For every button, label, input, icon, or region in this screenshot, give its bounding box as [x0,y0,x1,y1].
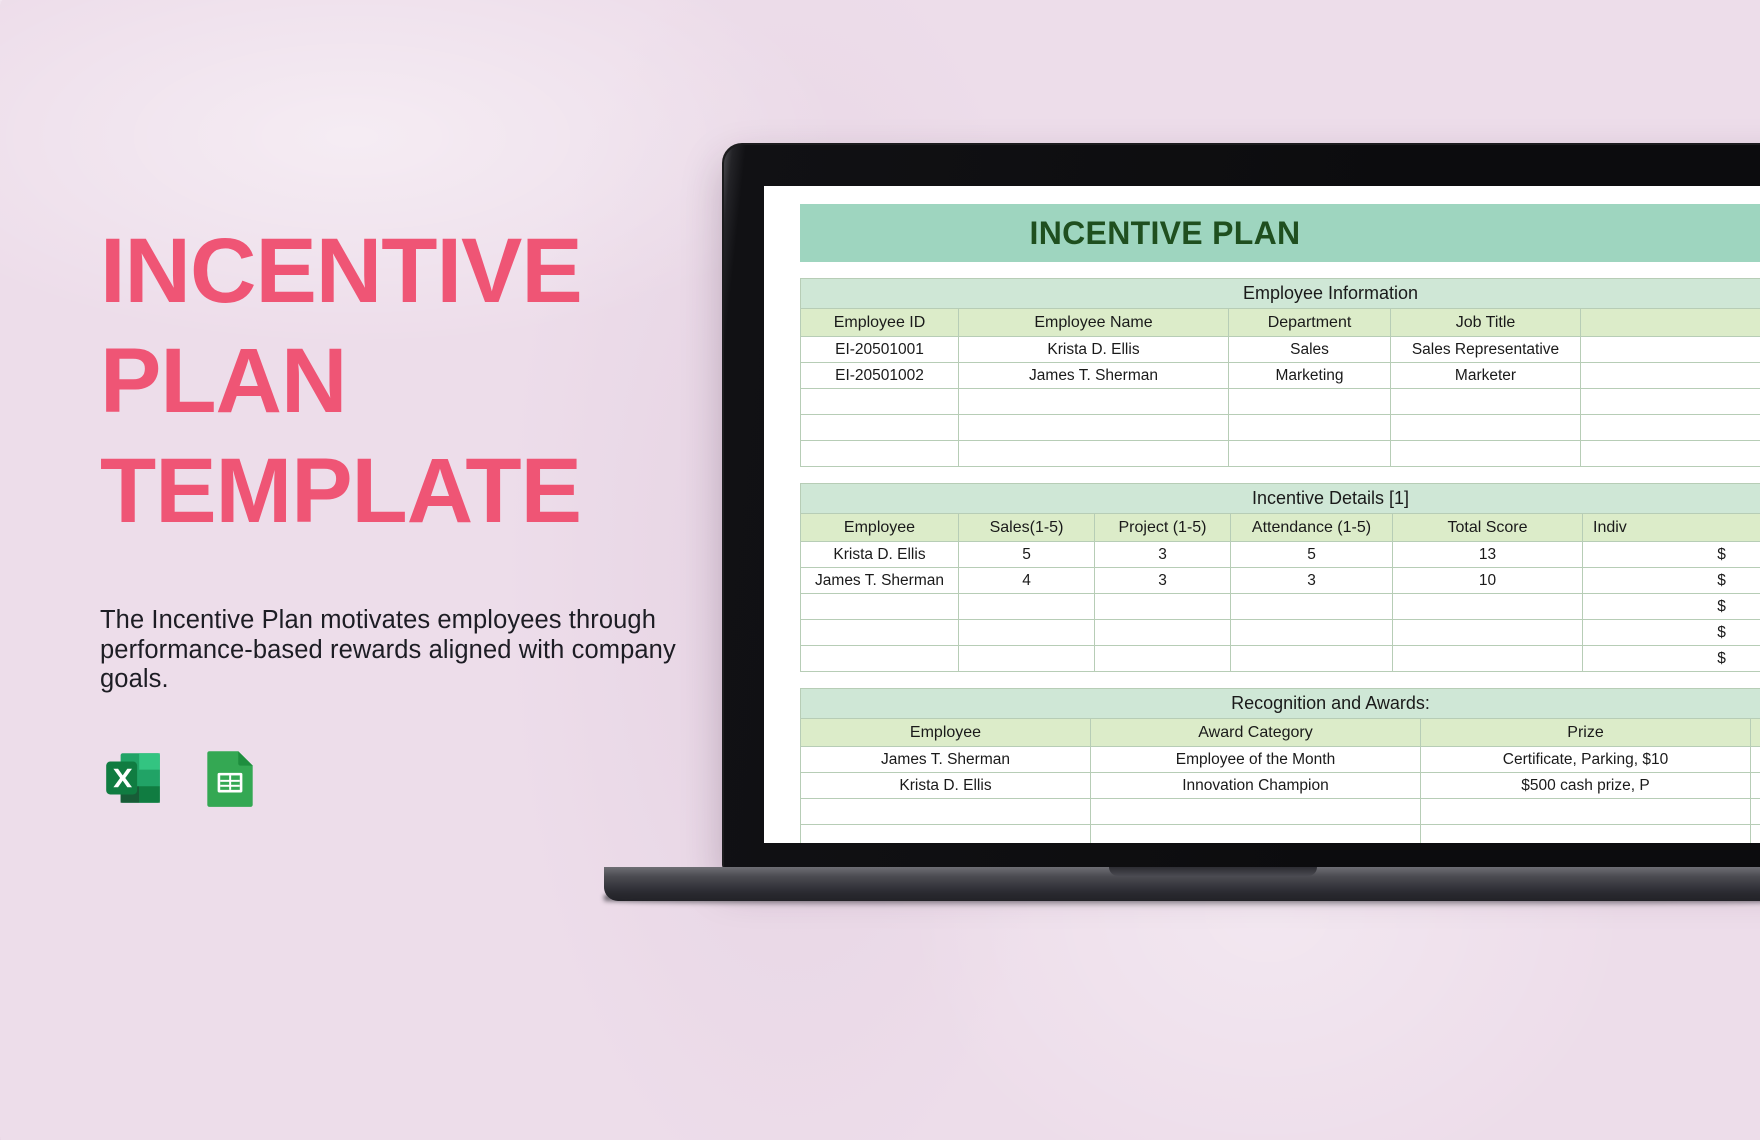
cell[interactable] [801,825,1091,844]
cell[interactable]: 5 [1231,542,1393,568]
cell[interactable]: $ [1583,568,1760,594]
incentive-details-table: Incentive Details [1] Employee Sales(1-5… [800,483,1760,672]
cell[interactable]: 3 [1231,568,1393,594]
cell[interactable]: Certificate, Parking, $10 [1421,747,1751,773]
column-header: Job Title [1391,309,1581,337]
table-row[interactable]: EI-20501002 James T. Sherman Marketing M… [801,363,1760,389]
cell[interactable] [1751,799,1760,825]
page-title: INCENTIVE PLAN TEMPLATE [100,216,740,546]
cell[interactable] [1095,646,1231,672]
section-band-label: Incentive Details [1] [801,484,1760,514]
section-band-row: Recognition and Awards: [801,689,1760,719]
cell[interactable] [1391,415,1581,441]
cell[interactable]: $ [1583,646,1760,672]
cell[interactable]: EI-20501001 [801,337,959,363]
cell[interactable] [1391,441,1581,467]
laptop-mockup: INCENTIVE PLAN Employee Information Empl… [722,143,1760,903]
cell[interactable] [1581,363,1760,389]
column-header: Award Category [1091,719,1421,747]
table-row[interactable] [801,825,1760,844]
column-header: Sales(1-5) [959,514,1095,542]
cell[interactable]: Krista D. Ellis [801,773,1091,799]
cell[interactable] [1229,415,1391,441]
cell[interactable]: Sales Representative [1391,337,1581,363]
google-sheets-icon[interactable] [197,745,263,811]
cell[interactable]: Employee of the Month [1091,747,1421,773]
cell[interactable] [1091,825,1421,844]
cell[interactable] [1581,337,1760,363]
section-band-row: Incentive Details [1] [801,484,1760,514]
cell[interactable]: 5 [959,542,1095,568]
table-row[interactable]: $ [801,646,1760,672]
cell[interactable] [1393,620,1583,646]
cell[interactable]: 13 [1393,542,1583,568]
column-header [1581,309,1760,337]
cell[interactable] [1229,389,1391,415]
title-line-3: TEMPLATE [100,436,740,546]
cell[interactable]: Marketer [1391,363,1581,389]
cell[interactable]: $ [1583,542,1760,568]
cell[interactable]: 3 [1095,542,1231,568]
laptop-shadow [604,895,1760,907]
cell[interactable] [1095,594,1231,620]
title-line-2: PLAN [100,326,740,436]
cell[interactable] [801,646,959,672]
cell[interactable] [801,799,1091,825]
title-line-1: INCENTIVE [100,216,740,326]
cell[interactable] [801,620,959,646]
column-header: Employee Name [959,309,1229,337]
cell[interactable]: EI-20501002 [801,363,959,389]
cell[interactable]: $ [1583,594,1760,620]
cell[interactable] [801,594,959,620]
spreadsheet: INCENTIVE PLAN Employee Information Empl… [764,186,1760,843]
cell[interactable]: 4 [959,568,1095,594]
employee-information-table: Employee Information Employee ID Employe… [800,278,1760,467]
cell[interactable] [959,415,1229,441]
cell[interactable] [1095,620,1231,646]
cell[interactable] [801,389,959,415]
column-header: Prize [1421,719,1751,747]
table-row[interactable]: James T. Sherman Employee of the Month C… [801,747,1760,773]
table-header-row: Employee Sales(1-5) Project (1-5) Attend… [801,514,1760,542]
excel-icon[interactable] [100,745,166,811]
table-header-row: Employee Award Category Prize [801,719,1760,747]
column-header: Employee [801,514,959,542]
column-header: Employee ID [801,309,959,337]
section-band-row: Employee Information [801,279,1760,309]
section-band-label: Recognition and Awards: [801,689,1760,719]
section-band-label: Employee Information [801,279,1760,309]
table-row[interactable]: $ [801,620,1760,646]
table-row[interactable]: James T. Sherman 4 3 3 10 $ [801,568,1760,594]
table-row[interactable]: $ [801,594,1760,620]
table-row[interactable]: Krista D. Ellis Innovation Champion $500… [801,773,1760,799]
table-row[interactable] [801,415,1760,441]
cell[interactable]: 3 [1095,568,1231,594]
cell[interactable] [1751,825,1760,844]
table-row[interactable] [801,799,1760,825]
cell[interactable]: Sales [1229,337,1391,363]
column-header: Total Score [1393,514,1583,542]
table-row[interactable]: EI-20501001 Krista D. Ellis Sales Sales … [801,337,1760,363]
promo-panel: INCENTIVE PLAN TEMPLATE The Incentive Pl… [100,216,740,811]
format-icon-row [100,745,740,811]
cell[interactable]: Marketing [1229,363,1391,389]
column-header: Attendance (1-5) [1231,514,1393,542]
cell[interactable] [1393,594,1583,620]
cell[interactable] [1091,799,1421,825]
cell[interactable] [1391,389,1581,415]
cell[interactable] [1421,799,1751,825]
cell[interactable] [959,594,1095,620]
column-header: Employee [801,719,1091,747]
cell[interactable]: Krista D. Ellis [801,542,959,568]
recognition-awards-table: Recognition and Awards: Employee Award C… [800,688,1760,843]
column-header: Indiv [1583,514,1760,542]
cell[interactable]: James T. Sherman [959,363,1229,389]
cell[interactable] [1393,646,1583,672]
column-header [1751,719,1760,747]
cell[interactable] [1421,825,1751,844]
cell[interactable]: James T. Sherman [801,568,959,594]
cell[interactable]: $500 cash prize, P [1421,773,1751,799]
cell[interactable]: James T. Sherman [801,747,1091,773]
cell[interactable] [1581,415,1760,441]
cell[interactable] [801,415,959,441]
cell[interactable] [1229,441,1391,467]
table-row[interactable] [801,389,1760,415]
column-header: Project (1-5) [1095,514,1231,542]
cell[interactable] [1751,747,1760,773]
promo-description: The Incentive Plan motivates employees t… [100,606,700,695]
cell[interactable] [1231,620,1393,646]
table-header-row: Employee ID Employee Name Department Job… [801,309,1760,337]
laptop-screen: INCENTIVE PLAN Employee Information Empl… [764,186,1760,843]
table-row[interactable]: Krista D. Ellis 5 3 5 13 $ [801,542,1760,568]
cell[interactable] [1581,441,1760,467]
cell[interactable] [1581,389,1760,415]
cell[interactable] [959,646,1095,672]
cell[interactable] [959,441,1229,467]
cell[interactable] [1231,594,1393,620]
cell[interactable] [1231,646,1393,672]
cell[interactable] [959,389,1229,415]
table-row[interactable] [801,441,1760,467]
cell[interactable]: Innovation Champion [1091,773,1421,799]
cell[interactable]: $ [1583,620,1760,646]
cell[interactable] [959,620,1095,646]
column-header: Department [1229,309,1391,337]
cell[interactable] [801,441,959,467]
cell[interactable] [1751,773,1760,799]
cell[interactable]: 10 [1393,568,1583,594]
spreadsheet-title: INCENTIVE PLAN [800,204,1760,262]
cell[interactable]: Krista D. Ellis [959,337,1229,363]
